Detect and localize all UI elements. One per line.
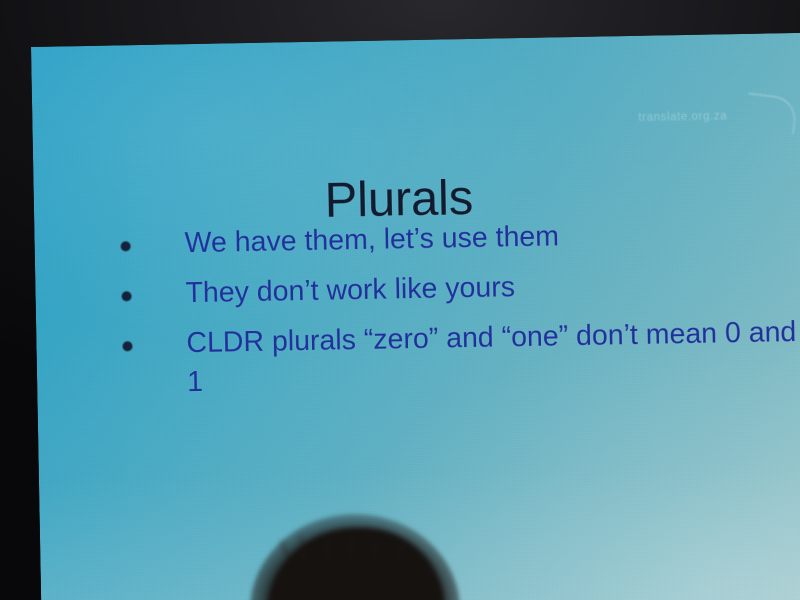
hair-wisp: [325, 532, 329, 560]
slide-content: translate.org.za Plurals We have them, l…: [31, 33, 800, 600]
bullet-dot-icon: [121, 241, 131, 251]
projection-screen: translate.org.za Plurals We have them, l…: [31, 33, 800, 600]
watermark: translate.org.za: [638, 95, 799, 142]
hair-wisp: [395, 544, 403, 559]
bullet-item-text: They don’t work like yours: [185, 271, 515, 309]
hair-wisp: [349, 536, 353, 560]
projected-slide-photo: translate.org.za Plurals We have them, l…: [0, 0, 800, 600]
hair-wisp: [372, 540, 379, 560]
bullet-item-text: CLDR plurals “zero” and “one” don’t mean…: [186, 316, 796, 397]
bullet-item: They don’t work like yours: [83, 263, 800, 315]
watermark-text: translate.org.za: [638, 110, 727, 124]
bullet-list: We have them, let’s use them They don’t …: [82, 213, 800, 415]
bullet-item: CLDR plurals “zero” and “one” don’t mean…: [84, 313, 800, 403]
bullet-item-text: We have them, let’s use them: [184, 220, 559, 259]
bullet-dot-icon: [122, 342, 132, 352]
watermark-swoosh-icon: [744, 93, 798, 135]
bullet-dot-icon: [121, 291, 131, 301]
